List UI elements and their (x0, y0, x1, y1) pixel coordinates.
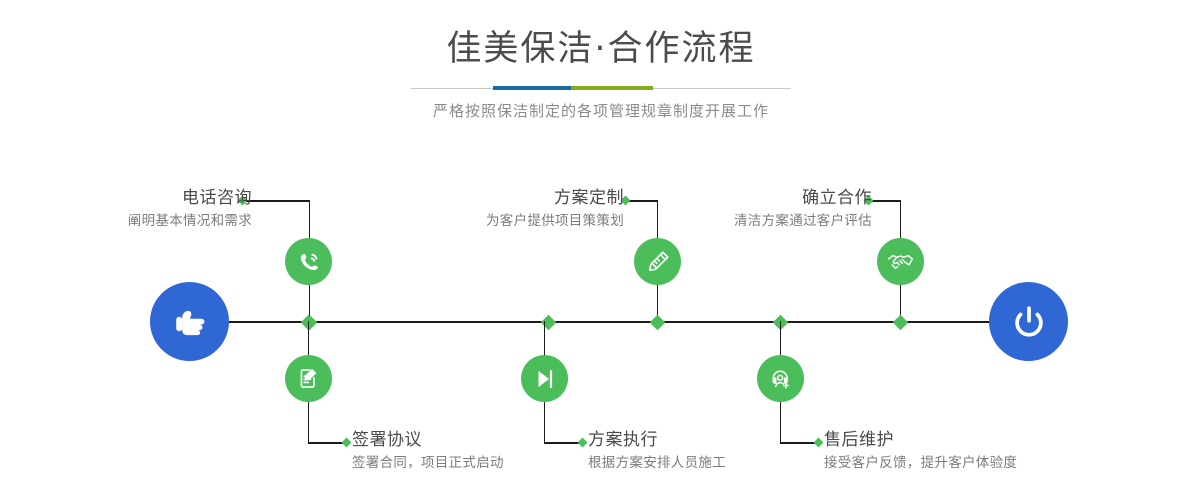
play-execute-icon (532, 366, 558, 392)
pointing-hand-icon (169, 301, 211, 343)
document-edit-icon (296, 366, 321, 391)
step-title-1: 电话咨询 (128, 186, 252, 210)
step-title-4: 方案执行 (588, 428, 726, 452)
node-tip-2 (342, 437, 352, 447)
step-label-4: 方案执行 根据方案安排人员施工 (588, 428, 726, 474)
step-desc-6: 接受客户反馈，提升客户体验度 (824, 452, 1017, 474)
timeline-end-marker (989, 282, 1068, 361)
node-diamond-3b (650, 314, 666, 330)
step-desc-1: 阐明基本情况和需求 (128, 210, 252, 232)
step-title-6: 售后维护 (824, 428, 1017, 452)
step-icon-3[interactable] (634, 238, 681, 285)
step-desc-2: 签署合同，项目正式启动 (352, 452, 504, 474)
node-tip-4 (578, 437, 588, 447)
node-run-4 (544, 442, 581, 444)
process-timeline: 电话咨询 阐明基本情况和需求 签署协议 签署合同，项目正式启动 (0, 0, 1202, 502)
step-desc-5: 清洁方案通过客户评估 (734, 210, 872, 232)
phone-call-icon (296, 249, 322, 275)
flow-infographic: 佳美保洁·合作流程 严格按照保洁制定的各项管理规章制度开展工作 (0, 0, 1202, 502)
step-icon-1[interactable] (285, 238, 332, 285)
pencil-ruler-icon (645, 249, 671, 275)
node-tip-6 (814, 437, 824, 447)
step-title-5: 确立合作 (734, 186, 872, 210)
step-label-3: 方案定制 为客户提供项目策策划 (486, 186, 624, 232)
step-label-1: 电话咨询 阐明基本情况和需求 (128, 186, 252, 232)
node-run-1 (242, 200, 310, 202)
step-label-5: 确立合作 清洁方案通过客户评估 (734, 186, 872, 232)
step-label-2: 签署协议 签署合同，项目正式启动 (352, 428, 504, 474)
power-icon (1009, 302, 1049, 342)
step-desc-3: 为客户提供项目策策划 (486, 210, 624, 232)
timeline-start-marker (150, 282, 229, 361)
customer-service-icon (768, 366, 794, 392)
node-diamond-5b (893, 314, 909, 330)
step-title-2: 签署协议 (352, 428, 504, 452)
step-title-3: 方案定制 (486, 186, 624, 210)
step-icon-2[interactable] (285, 355, 332, 402)
node-run-6 (780, 442, 817, 444)
step-desc-4: 根据方案安排人员施工 (588, 452, 726, 474)
step-icon-6[interactable] (757, 355, 804, 402)
step-label-6: 售后维护 接受客户反馈，提升客户体验度 (824, 428, 1017, 474)
step-icon-5[interactable] (877, 238, 924, 285)
step-icon-4[interactable] (521, 355, 568, 402)
handshake-icon (887, 248, 914, 275)
node-run-2 (308, 442, 345, 444)
